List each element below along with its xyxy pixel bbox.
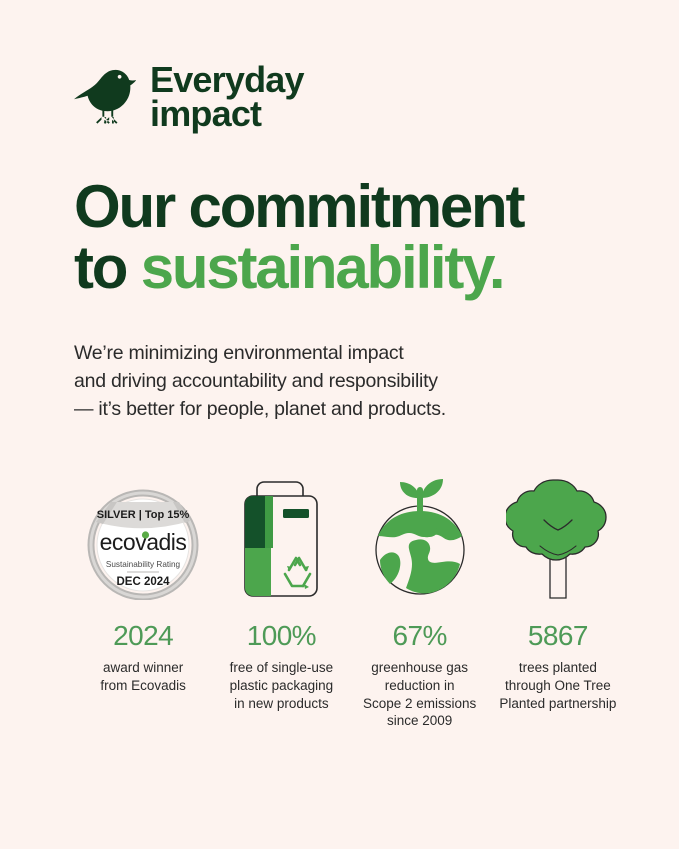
stat-item-emissions: 67% greenhouse gas reduction in Scope 2 … xyxy=(351,468,489,730)
globe-sprout-icon xyxy=(364,468,476,600)
stats-row: SILVER | Top 15% ecovadis Sustainability… xyxy=(74,468,627,730)
recyclable-packaging-icon xyxy=(239,478,323,600)
stat-value: 100% xyxy=(247,622,316,650)
intro-paragraph: We’re minimizing environmental impact an… xyxy=(74,339,605,424)
stat-art xyxy=(364,468,476,600)
logo-line-2: impact xyxy=(150,97,304,131)
sustainability-infographic: Everyday impact Our commitment to sustai… xyxy=(0,0,679,849)
stat-caption-line: Scope 2 emissions xyxy=(363,695,476,713)
stat-item-packaging: 100% free of single-use plastic packagin… xyxy=(212,468,350,712)
stat-art xyxy=(239,468,323,600)
stat-caption-line: reduction in xyxy=(363,677,476,695)
headline-accent: sustainability. xyxy=(141,234,504,301)
stat-value: 2024 xyxy=(113,622,173,650)
intro-line-2: and driving accountability and responsib… xyxy=(74,367,605,395)
stat-art xyxy=(506,468,610,600)
stat-art: SILVER | Top 15% ecovadis Sustainability… xyxy=(87,468,199,600)
stat-caption-line: greenhouse gas xyxy=(363,659,476,677)
stat-caption-line: free of single-use xyxy=(230,659,334,677)
medal-subtitle-text: Sustainability Rating xyxy=(106,560,181,569)
stat-item-ecovadis: SILVER | Top 15% ecovadis Sustainability… xyxy=(74,468,212,695)
headline-line-1: Our commitment xyxy=(74,173,523,240)
medal-banner-text: SILVER | Top 15% xyxy=(97,509,190,521)
stat-item-trees: 5867 trees planted through One Tree Plan… xyxy=(489,468,627,712)
stat-caption-line: since 2009 xyxy=(363,712,476,730)
stat-caption: greenhouse gas reduction in Scope 2 emis… xyxy=(363,659,476,730)
bird-icon xyxy=(74,62,136,132)
stat-caption-line: through One Tree xyxy=(499,677,616,695)
page-title: Our commitment to sustainability. xyxy=(74,176,605,298)
intro-line-1: We’re minimizing environmental impact xyxy=(74,339,605,367)
brand-logo: Everyday impact xyxy=(74,0,605,132)
stat-caption-line: Planted partnership xyxy=(499,695,616,713)
stat-caption-line: in new products xyxy=(230,695,334,713)
stat-caption: trees planted through One Tree Planted p… xyxy=(499,659,616,712)
stat-value: 5867 xyxy=(528,622,588,650)
stat-caption: award winner from Ecovadis xyxy=(100,659,186,695)
logo-wordmark: Everyday impact xyxy=(150,63,304,131)
headline-line-2-prefix: to xyxy=(74,234,141,301)
stat-caption-line: plastic packaging xyxy=(230,677,334,695)
ecovadis-medal-icon: SILVER | Top 15% ecovadis Sustainability… xyxy=(87,488,199,600)
stat-caption: free of single-use plastic packaging in … xyxy=(230,659,334,712)
stat-caption-line: award winner xyxy=(100,659,186,677)
stat-value: 67% xyxy=(393,622,447,650)
stat-caption-line: from Ecovadis xyxy=(100,677,186,695)
intro-line-3: — it’s better for people, planet and pro… xyxy=(74,395,605,423)
stat-caption-line: trees planted xyxy=(499,659,616,677)
medal-date-text: DEC 2024 xyxy=(117,576,171,588)
tree-icon xyxy=(506,474,610,600)
